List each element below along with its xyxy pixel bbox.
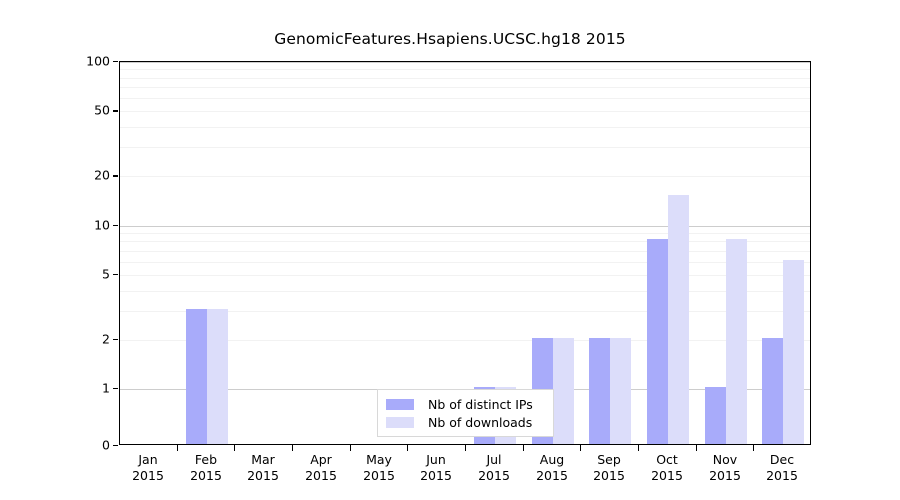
- bar: [668, 195, 689, 444]
- x-axis-tick-mark: [465, 445, 466, 451]
- x-axis-tick-mark: [753, 445, 754, 451]
- y-axis-tick-mark: [113, 175, 118, 176]
- y-axis-tick-label: 10: [94, 217, 110, 232]
- x-axis-tick-mark: [177, 445, 178, 451]
- legend-item-label: Nb of distinct IPs: [428, 397, 533, 412]
- bar: [610, 338, 631, 444]
- legend-swatch-icon: [386, 417, 414, 428]
- x-axis-tick-label: Dec2015: [737, 452, 827, 484]
- y-axis-labels: 0125102050100: [62, 61, 110, 445]
- gridline: [120, 233, 810, 234]
- bar: [726, 239, 747, 444]
- y-axis-tick-mark: [113, 61, 118, 62]
- gridline: [120, 147, 810, 148]
- gridline: [120, 62, 810, 63]
- legend-item-distinct-ips: Nb of distinct IPs: [386, 395, 545, 413]
- bar: [783, 260, 804, 444]
- gridline: [120, 87, 810, 88]
- bar: [589, 338, 610, 444]
- bar: [762, 338, 783, 444]
- gridline: [120, 127, 810, 128]
- gridline: [120, 291, 810, 292]
- gridline: [120, 251, 810, 252]
- bar: [647, 239, 668, 444]
- x-axis-tick-mark: [234, 445, 235, 451]
- gridline: [120, 226, 810, 227]
- x-axis-tick-mark: [523, 445, 524, 451]
- y-axis-tick-mark: [113, 445, 118, 446]
- gridline: [120, 78, 810, 79]
- y-axis-tick-mark: [113, 225, 118, 226]
- y-axis-tick-label: 0: [102, 438, 110, 453]
- legend-item-downloads: Nb of downloads: [386, 413, 545, 431]
- bar: [207, 309, 228, 444]
- legend-item-label: Nb of downloads: [428, 415, 532, 430]
- y-axis-tick-mark: [113, 274, 118, 275]
- page-title: GenomicFeatures.Hsapiens.UCSC.hg18 2015: [0, 30, 900, 48]
- x-axis-tick-mark: [292, 445, 293, 451]
- gridline: [120, 262, 810, 263]
- chart-figure: GenomicFeatures.Hsapiens.UCSC.hg18 2015 …: [0, 0, 900, 500]
- gridline: [120, 241, 810, 242]
- y-axis-tick-label: 20: [94, 168, 110, 183]
- y-axis-tick-mark: [113, 388, 118, 389]
- bar: [553, 338, 574, 444]
- y-axis-tick-mark: [113, 110, 118, 111]
- legend: Nb of distinct IPs Nb of downloads: [377, 389, 554, 437]
- x-axis-tick-mark: [696, 445, 697, 451]
- bar: [186, 309, 207, 444]
- gridline: [120, 69, 810, 70]
- y-axis-tick-label: 50: [94, 103, 110, 118]
- plot-area: [119, 61, 811, 445]
- gridline: [120, 176, 810, 177]
- legend-swatch-icon: [386, 399, 414, 410]
- x-axis-tick-mark: [638, 445, 639, 451]
- y-axis-tick-label: 1: [102, 381, 110, 396]
- gridline: [120, 98, 810, 99]
- bar: [705, 387, 726, 444]
- y-axis-tick-label: 5: [102, 266, 110, 281]
- gridline: [120, 275, 810, 276]
- gridline: [120, 111, 810, 112]
- y-axis-tick-label: 100: [86, 54, 110, 69]
- x-axis-tick-mark: [580, 445, 581, 451]
- x-axis-tick-mark: [407, 445, 408, 451]
- x-axis-tick-mark: [350, 445, 351, 451]
- y-axis-tick-mark: [113, 339, 118, 340]
- y-axis-tick-label: 2: [102, 331, 110, 346]
